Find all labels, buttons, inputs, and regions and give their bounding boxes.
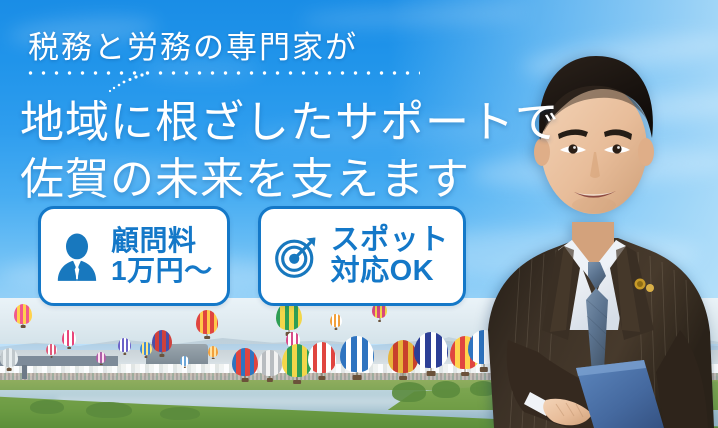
balloon-envelope <box>46 344 57 355</box>
headline-line-1: 税務と労務の専門家が <box>28 22 358 67</box>
balloon-envelope <box>14 304 32 324</box>
hot-air-balloon <box>196 310 218 339</box>
hero-banner: 税務と労務の専門家が 地域に根ざしたサポートで 佐賀の未来を支えます <box>0 0 718 428</box>
badge-spot-support-line-1: スポット <box>331 225 449 256</box>
hot-air-balloon <box>276 302 302 336</box>
badge-advisory-fee-line-2: 1万円〜 <box>111 256 213 286</box>
dotted-divider <box>24 70 420 76</box>
hot-air-balloon <box>152 330 172 357</box>
shrub <box>392 382 426 402</box>
hot-air-balloon <box>0 348 18 371</box>
headline-line-3: 佐賀の未来を支えます <box>20 143 470 207</box>
balloon-envelope <box>330 314 342 327</box>
hot-air-balloon <box>308 342 336 380</box>
balloon-envelope <box>140 342 152 355</box>
balloon-basket <box>353 375 362 380</box>
balloon-envelope <box>414 332 448 368</box>
hot-air-balloon <box>140 342 152 358</box>
businessman-photo <box>468 0 718 428</box>
shrub <box>86 402 132 418</box>
hot-air-balloon <box>414 332 448 376</box>
balloon-basket <box>318 376 325 380</box>
hot-air-balloon <box>14 304 32 328</box>
balloon-basket <box>183 367 185 368</box>
hot-air-balloon <box>118 338 131 355</box>
balloon-envelope <box>208 346 218 357</box>
badge-advisory-fee-line-1: 顧問料 <box>111 226 213 256</box>
hot-air-balloon <box>62 330 76 349</box>
balloon-envelope <box>180 356 189 366</box>
balloon-basket <box>267 378 273 382</box>
badge-advisory-fee[interactable]: 顧問料 1万円〜 <box>38 206 230 306</box>
hot-air-balloon <box>330 314 342 330</box>
target-arrow-icon <box>273 230 321 282</box>
shrub <box>30 400 64 414</box>
balloon-basket <box>378 320 382 322</box>
balloon-envelope <box>232 348 258 376</box>
business-person-icon <box>53 230 101 282</box>
balloon-envelope <box>0 348 18 367</box>
balloon-basket <box>159 354 164 357</box>
hot-air-balloon <box>96 352 106 365</box>
badge-spot-support[interactable]: スポット 対応OK <box>258 206 466 306</box>
shrub <box>160 407 200 420</box>
balloon-envelope <box>258 350 282 376</box>
balloon-basket <box>242 378 249 382</box>
headline-line-2: 地域に根ざしたサポートで <box>20 86 560 150</box>
badge-spot-support-line-2: 対応OK <box>331 256 449 287</box>
balloon-envelope <box>96 352 106 363</box>
balloon-basket <box>50 356 53 358</box>
hot-air-balloon <box>232 348 258 382</box>
badge-advisory-fee-text: 顧問料 1万円〜 <box>111 226 213 286</box>
balloon-basket <box>212 358 215 359</box>
hot-air-balloon <box>46 344 57 358</box>
hot-air-balloon <box>180 356 189 368</box>
balloon-envelope <box>118 338 131 352</box>
balloon-basket <box>293 380 301 384</box>
balloon-basket <box>144 356 147 358</box>
balloon-basket <box>123 353 126 355</box>
balloon-envelope <box>276 302 302 330</box>
balloon-basket <box>100 364 103 365</box>
balloon-basket <box>399 376 407 380</box>
balloon-basket <box>204 336 210 339</box>
balloon-basket <box>21 325 26 328</box>
badge-group: 顧問料 1万円〜 スポット 対応OK <box>38 206 466 306</box>
badge-spot-support-text: スポット 対応OK <box>331 225 449 288</box>
balloon-basket <box>334 328 337 330</box>
balloon-envelope <box>340 336 374 372</box>
balloon-envelope <box>196 310 218 334</box>
hot-air-balloon <box>208 346 218 359</box>
hot-air-balloon <box>340 336 374 380</box>
hot-air-balloon <box>258 350 282 382</box>
balloon-basket <box>7 368 12 371</box>
shrub <box>432 381 460 398</box>
balloon-basket <box>67 347 71 349</box>
balloon-basket <box>427 371 436 376</box>
balloon-envelope <box>152 330 172 352</box>
balloon-envelope <box>308 342 336 373</box>
balloon-envelope <box>62 330 76 346</box>
